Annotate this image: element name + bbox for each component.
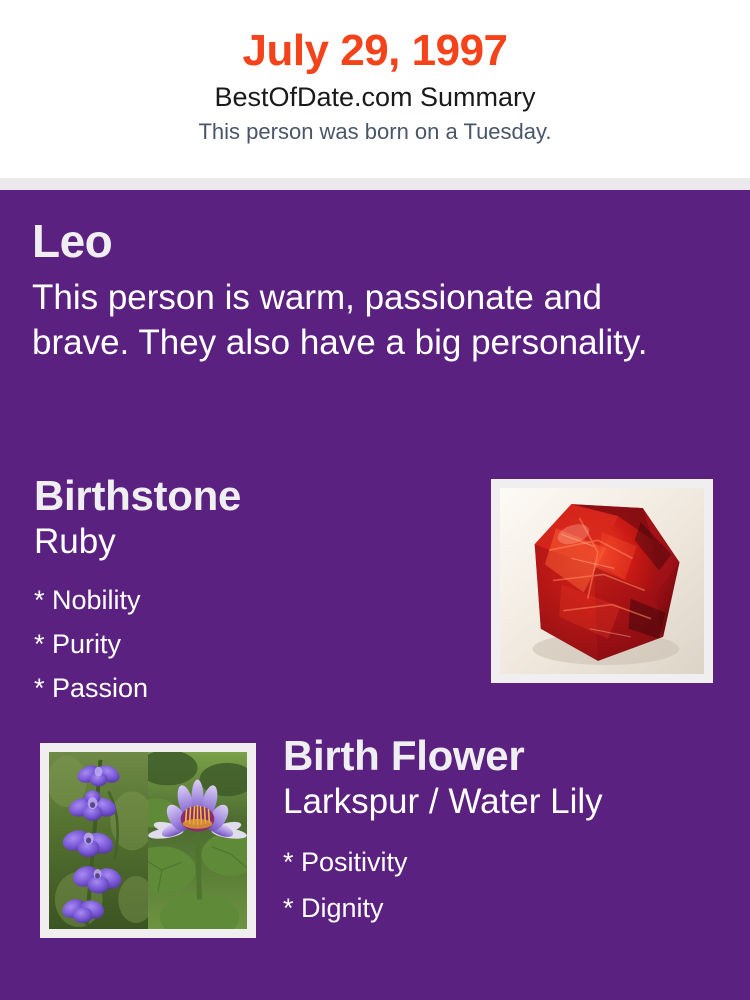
list-item: * Purity — [34, 614, 474, 658]
birthstone-name: Ruby — [34, 517, 474, 562]
larkspur-photo — [49, 752, 148, 929]
birthstone-image — [500, 488, 704, 674]
header-divider — [0, 178, 750, 190]
birth-flower-section: Birth Flower Larkspur / Water Lily * Pos… — [283, 735, 733, 922]
list-item: * Passion — [34, 658, 474, 702]
site-summary-label: BestOfDate.com Summary — [0, 74, 750, 113]
page-title-date: July 29, 1997 — [0, 0, 750, 74]
birth-flower-name: Larkspur / Water Lily — [283, 777, 733, 822]
zodiac-sign-name: Leo — [32, 218, 712, 264]
zodiac-description: This person is warm, passionate and brav… — [32, 264, 682, 366]
larkspur-flower-illustration — [49, 752, 148, 929]
zodiac-section: Leo This person is warm, passionate and … — [32, 218, 712, 366]
birthstone-title: Birthstone — [34, 475, 474, 517]
birth-flower-trait-list: * Positivity * Dignity — [283, 822, 733, 922]
birthstone-trait-list: * Nobility * Purity * Passion — [34, 562, 474, 702]
birthstone-section: Birthstone Ruby * Nobility * Purity * Pa… — [34, 475, 474, 702]
water-lily-photo — [148, 752, 247, 929]
list-item: * Nobility — [34, 570, 474, 614]
birth-flower-title: Birth Flower — [283, 735, 733, 777]
list-item: * Positivity — [283, 830, 733, 876]
header: July 29, 1997 BestOfDate.com Summary Thi… — [0, 0, 750, 178]
ruby-crystal-illustration — [500, 488, 704, 674]
water-lily-flower-illustration — [148, 752, 247, 929]
summary-page: July 29, 1997 BestOfDate.com Summary Thi… — [0, 0, 750, 1000]
birth-flower-image-frame — [40, 743, 256, 938]
list-item: * Dignity — [283, 876, 733, 922]
birth-flower-image — [49, 752, 247, 929]
birthstone-image-frame — [491, 479, 713, 683]
born-day-text: This person was born on a Tuesday. — [0, 113, 750, 144]
